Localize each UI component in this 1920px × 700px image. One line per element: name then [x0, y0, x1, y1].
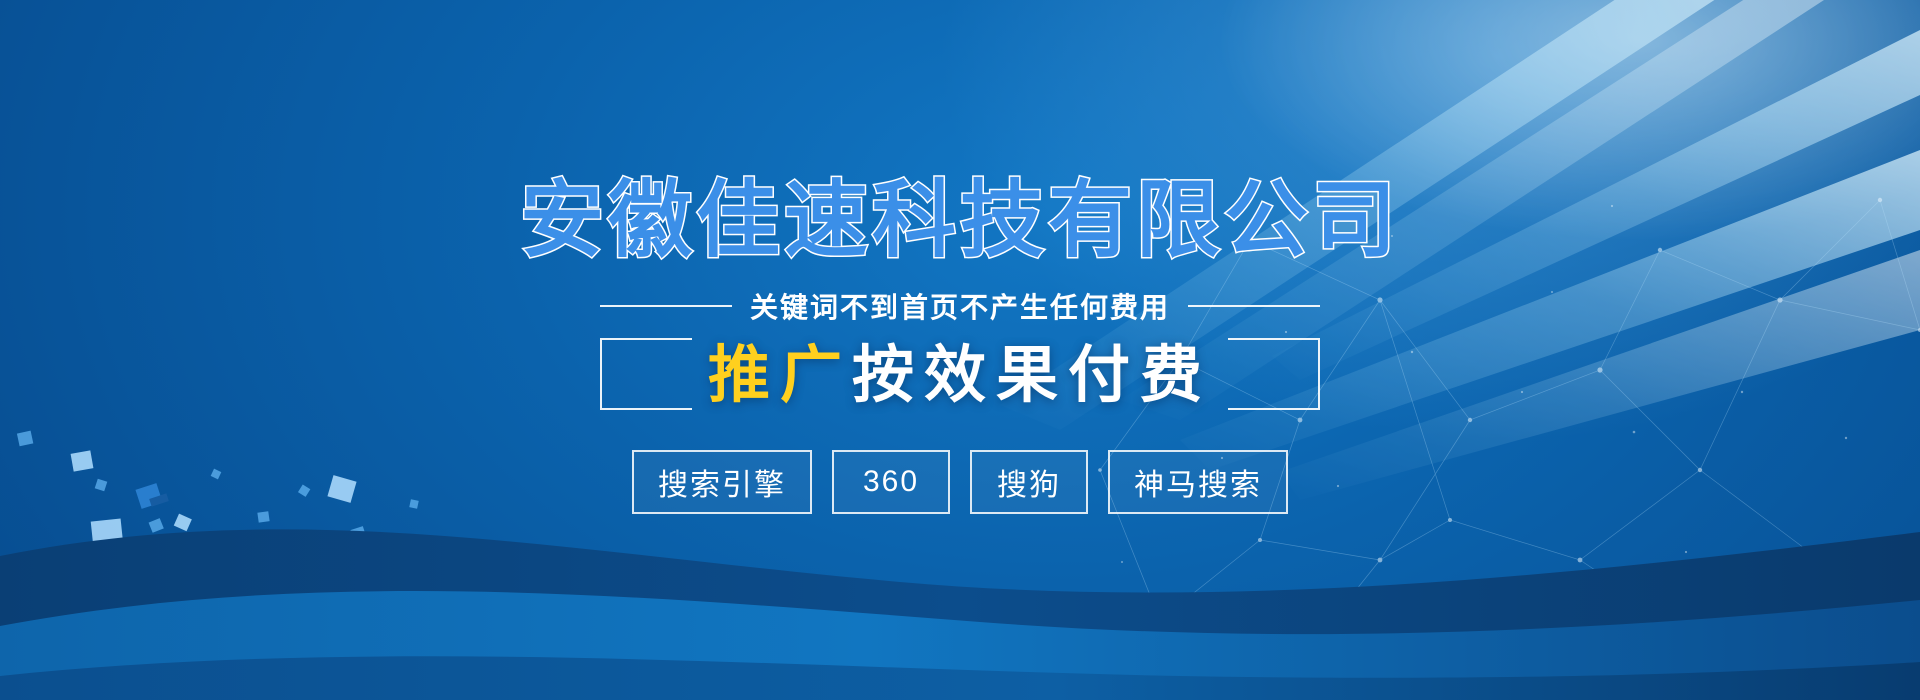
slogan-row: 推广按效果付费 — [600, 336, 1320, 416]
slogan: 推广按效果付费 — [708, 345, 1212, 407]
tag-search-engine[interactable]: 搜索引擎 — [632, 450, 812, 514]
promo-banner: 安徽佳速科技有限公司 关键词不到首页不产生任何费用 推广按效果付费 搜索引擎 3… — [0, 0, 1920, 700]
subtitle-row: 关键词不到首页不产生任何费用 — [600, 286, 1320, 326]
subtitle-text: 关键词不到首页不产生任何费用 — [750, 286, 1170, 326]
subtitle-rule-left — [600, 305, 732, 307]
bracket-right-decoration — [1228, 338, 1320, 410]
bracket-left-decoration — [600, 338, 692, 410]
subtitle-rule-right — [1188, 305, 1320, 307]
banner-content: 安徽佳速科技有限公司 关键词不到首页不产生任何费用 推广按效果付费 搜索引擎 3… — [0, 0, 1920, 700]
company-title: 安徽佳速科技有限公司 — [520, 178, 1400, 262]
tag-sogou[interactable]: 搜狗 — [970, 450, 1088, 514]
slogan-plain: 按效果付费 — [852, 341, 1212, 410]
slogan-highlight: 推广 — [708, 341, 852, 410]
tag-360[interactable]: 360 — [832, 450, 950, 514]
tag-shenma[interactable]: 神马搜索 — [1108, 450, 1288, 514]
search-engine-tag-list: 搜索引擎 360 搜狗 神马搜索 — [632, 450, 1288, 514]
